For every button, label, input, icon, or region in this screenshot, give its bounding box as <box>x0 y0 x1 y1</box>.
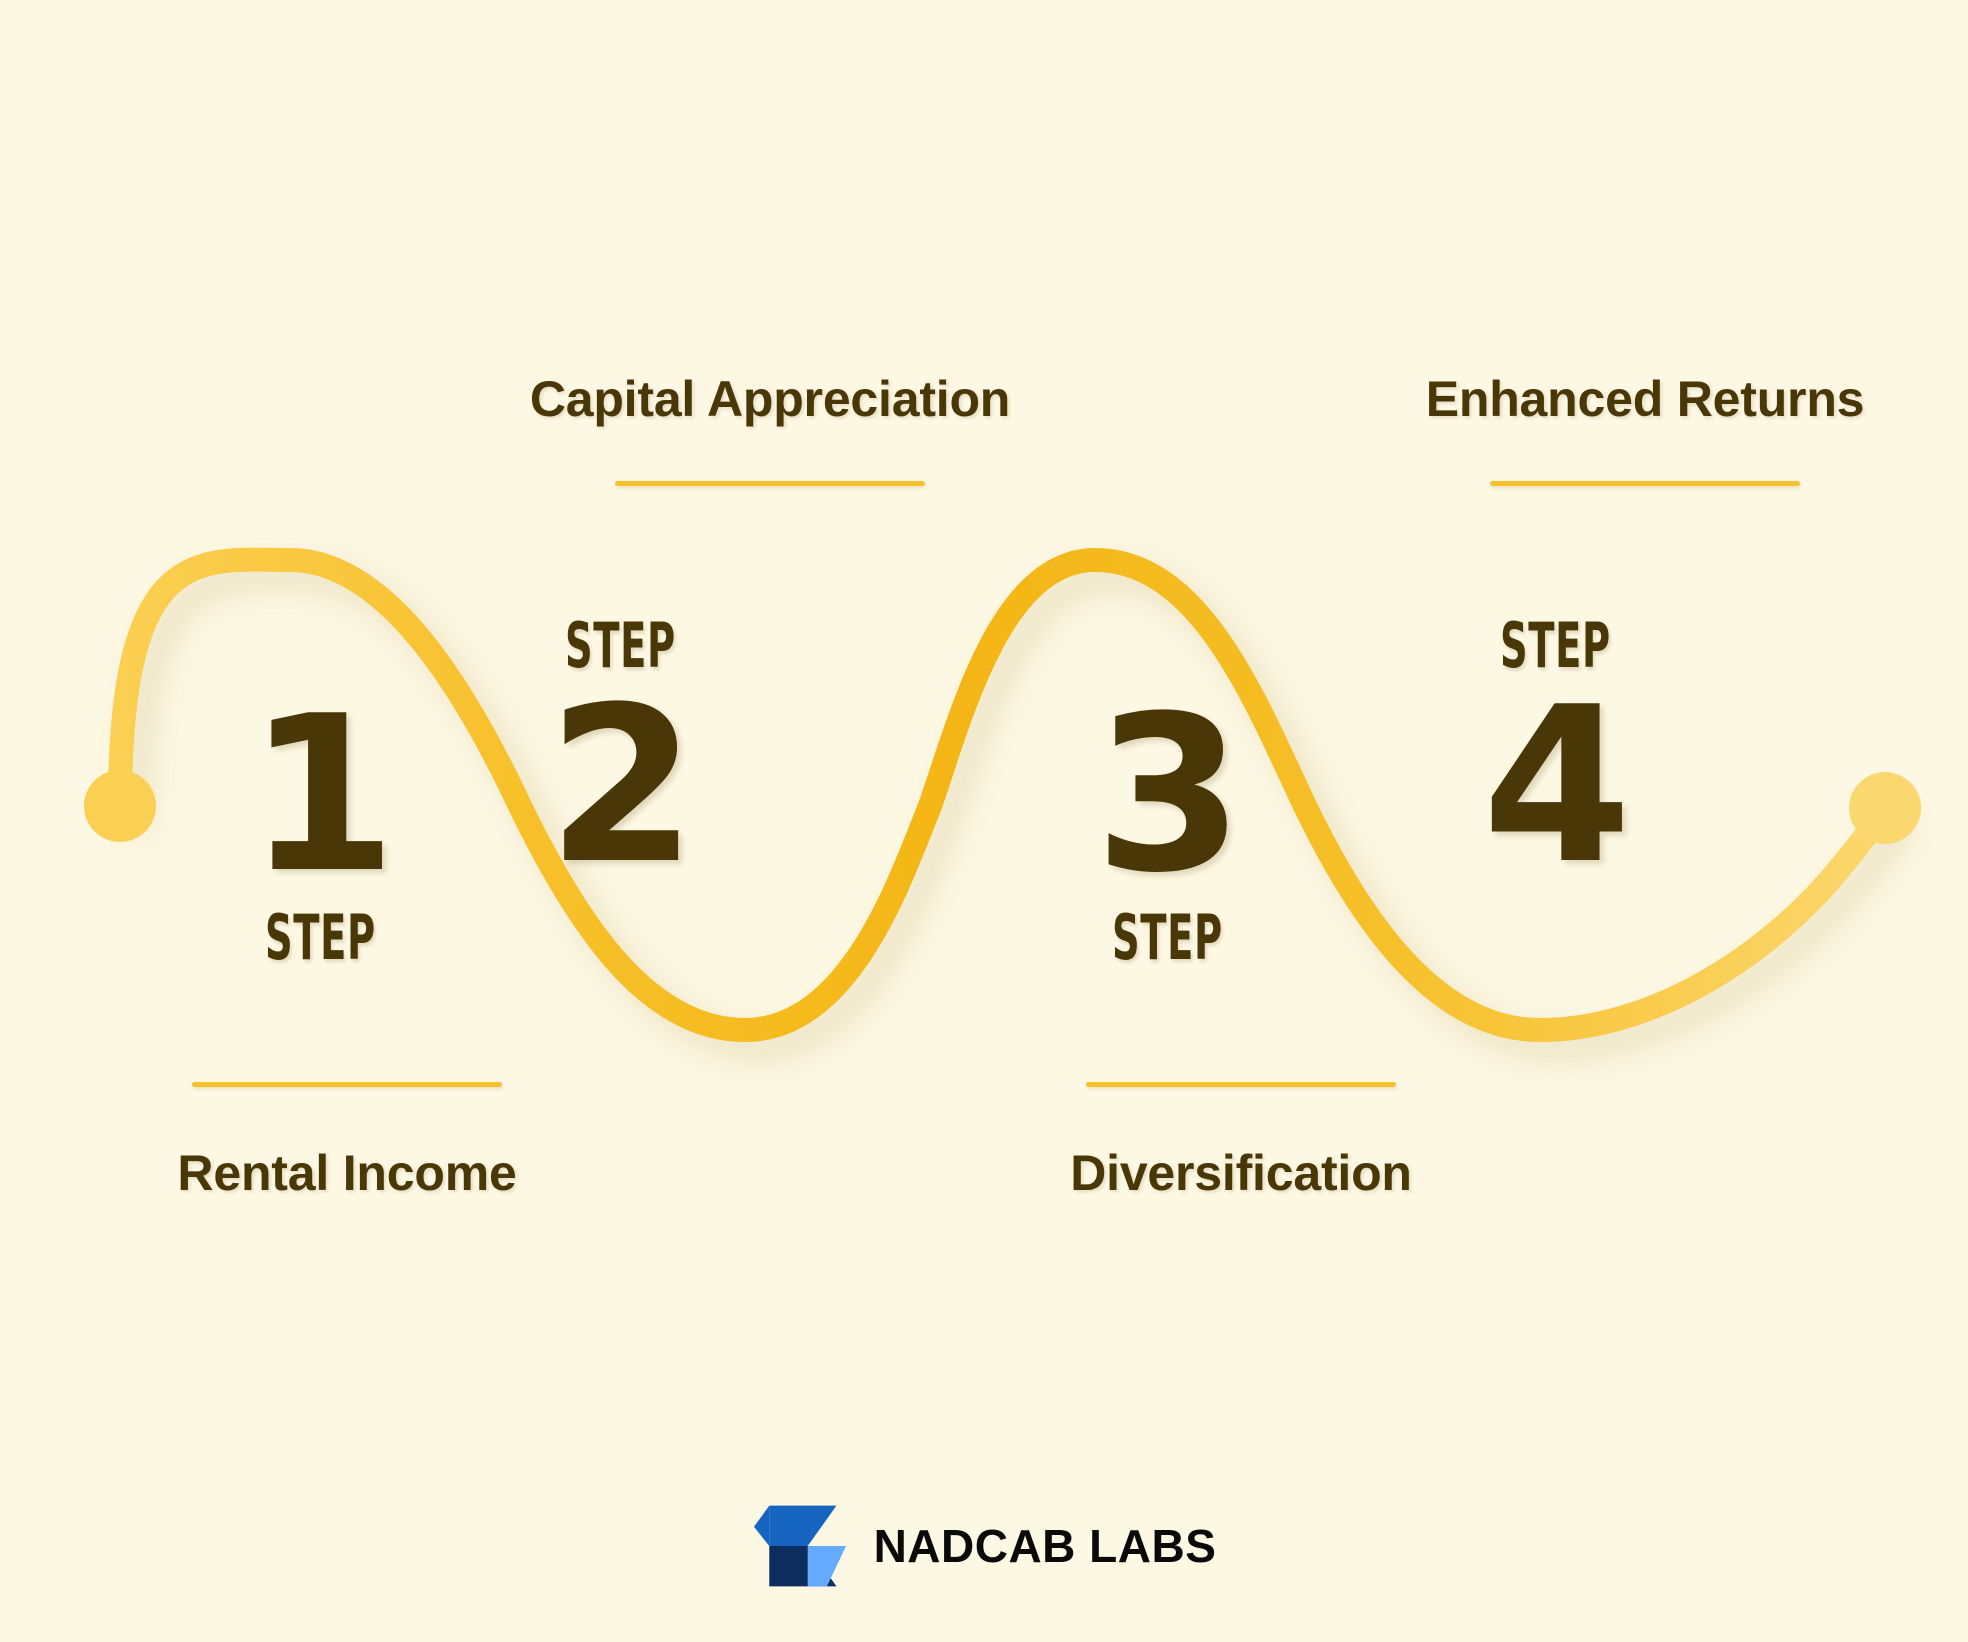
divider-rental-income <box>192 1082 502 1087</box>
step-block-4: 4 STEP <box>1440 615 1670 880</box>
wave-start-dot <box>84 770 156 842</box>
step-word-4: STEP <box>1500 615 1611 677</box>
infographic-canvas: Capital Appreciation Enhanced Returns Re… <box>0 0 1968 1642</box>
step-word-3: STEP <box>1112 907 1223 969</box>
step-block-1: 1 STEP <box>205 700 435 969</box>
step-number-4: 4 <box>1482 691 1628 880</box>
logo-facet-notch <box>753 1506 768 1546</box>
top-label-capital-appreciation: Capital Appreciation <box>470 370 1070 428</box>
step-number-3: 3 <box>1094 700 1240 889</box>
top-label-enhanced-returns: Enhanced Returns <box>1345 370 1945 428</box>
divider-capital-appreciation <box>615 481 925 486</box>
footer-brand: NADCAB LABS <box>0 1498 1968 1594</box>
step-number-2: 2 <box>547 691 693 880</box>
divider-enhanced-returns <box>1490 481 1800 486</box>
step-number-1: 1 <box>247 700 393 889</box>
divider-diversification <box>1086 1082 1396 1087</box>
bottom-label-rental-income: Rental Income <box>47 1144 647 1202</box>
logo-facet-bottom-right <box>807 1546 845 1586</box>
wave-end-dot <box>1849 772 1921 844</box>
step-word-2: STEP <box>565 615 676 677</box>
step-block-2: 2 STEP <box>505 615 735 880</box>
nadcab-chevron-logo <box>752 1498 848 1594</box>
brand-name: NADCAB LABS <box>874 1519 1217 1573</box>
logo-facet-top <box>769 1506 836 1546</box>
step-word-1: STEP <box>265 907 376 969</box>
step-block-3: 3 STEP <box>1052 700 1282 969</box>
bottom-label-diversification: Diversification <box>941 1144 1541 1202</box>
